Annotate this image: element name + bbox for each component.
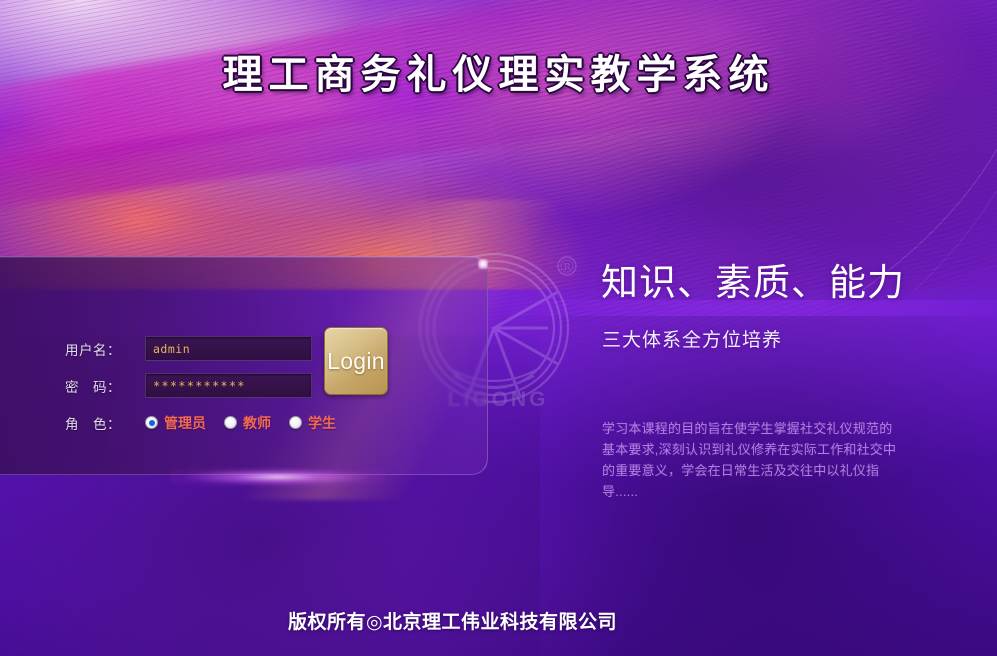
radio-selected-icon[interactable] <box>145 416 158 429</box>
username-input-value: admin <box>153 342 190 356</box>
role-option-admin-label: 管理员 <box>164 413 206 433</box>
role-option-teacher-label: 教师 <box>243 413 271 433</box>
username-row: 用户名： admin <box>65 330 465 367</box>
role-row: 角 色： 管理员 教师 学生 <box>65 404 465 441</box>
promo-subline: 三大体系全方位培养 <box>602 325 782 352</box>
panel-corner-highlight <box>478 259 488 269</box>
login-button-label: Login <box>327 348 385 375</box>
password-label: 密 码： <box>65 376 145 396</box>
panel-under-glow <box>170 468 385 486</box>
login-button[interactable]: Login <box>324 327 388 395</box>
promo-paragraph: 学习本课程的目的旨在使学生掌握社交礼仪规范的基本要求,深刻认识到礼仪修养在实际工… <box>602 418 902 502</box>
role-option-teacher[interactable]: 教师 <box>224 413 271 433</box>
role-radio-group: 管理员 教师 学生 <box>145 413 354 433</box>
footer-copyright: 版权所有◎北京理工伟业科技有限公司 <box>0 607 997 634</box>
role-option-student[interactable]: 学生 <box>289 413 336 433</box>
username-label: 用户名： <box>65 339 145 359</box>
login-form: 用户名： admin 密 码： *********** 角 色： 管理员 教师 <box>65 330 465 441</box>
password-row: 密 码： *********** <box>65 367 465 404</box>
password-input-value: *********** <box>153 379 246 393</box>
login-page: 理工商务礼仪理实教学系统 R LIGONG <box>0 0 997 656</box>
role-option-student-label: 学生 <box>308 413 336 433</box>
username-input[interactable]: admin <box>145 336 312 361</box>
registered-trademark-icon: R <box>556 255 578 277</box>
promo-headline: 知识、素质、能力 <box>601 252 905 306</box>
svg-text:R: R <box>564 263 571 273</box>
footer-copyright-text: 版权所有◎北京理工伟业科技有限公司 <box>288 607 617 634</box>
role-label: 角 色： <box>65 413 145 433</box>
radio-unselected-icon[interactable] <box>224 416 237 429</box>
role-option-admin[interactable]: 管理员 <box>145 413 206 433</box>
page-title: 理工商务礼仪理实教学系统 <box>0 42 997 100</box>
password-input[interactable]: *********** <box>145 373 312 398</box>
radio-unselected-icon[interactable] <box>289 416 302 429</box>
